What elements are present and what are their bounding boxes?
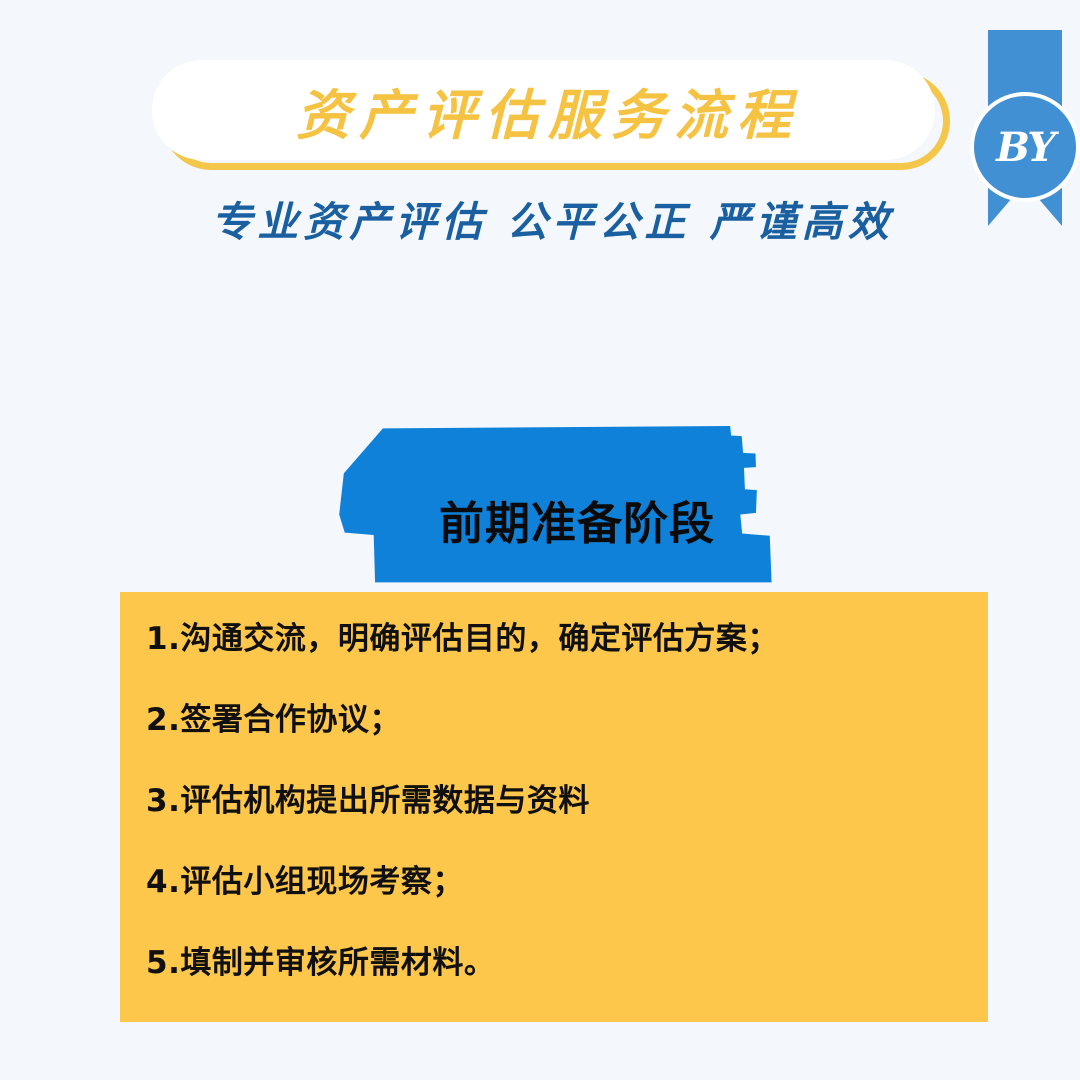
brand-monogram: BY (970, 92, 1080, 202)
poster-canvas: 资产评估服务流程 专业资产评估 公平公正 严谨高效 BY 前期准备阶段 1.沟通… (0, 0, 1080, 1080)
list-item: 2.签署合作协议； (146, 705, 962, 736)
list-item: 3.评估机构提出所需数据与资料 (146, 786, 962, 817)
steps-panel: 1.沟通交流，明确评估目的，确定评估方案； 2.签署合作协议； 3.评估机构提出… (120, 592, 988, 1022)
header-section: 资产评估服务流程 专业资产评估 公平公正 严谨高效 BY (0, 0, 1080, 270)
steps-list: 1.沟通交流，明确评估目的，确定评估方案； 2.签署合作协议； 3.评估机构提出… (146, 624, 962, 979)
list-item: 4.评估小组现场考察； (146, 867, 962, 898)
stage-title: 前期准备阶段 (330, 426, 790, 584)
list-item: 5.填制并审核所需材料。 (146, 948, 962, 979)
page-title: 资产评估服务流程 (152, 60, 935, 160)
ribbon-badge-icon: BY (988, 30, 1062, 226)
stage-banner: 前期准备阶段 (330, 426, 790, 584)
page-subtitle: 专业资产评估 公平公正 严谨高效 (150, 188, 950, 248)
list-item: 1.沟通交流，明确评估目的，确定评估方案； (146, 624, 962, 655)
title-banner: 资产评估服务流程 (152, 60, 952, 170)
